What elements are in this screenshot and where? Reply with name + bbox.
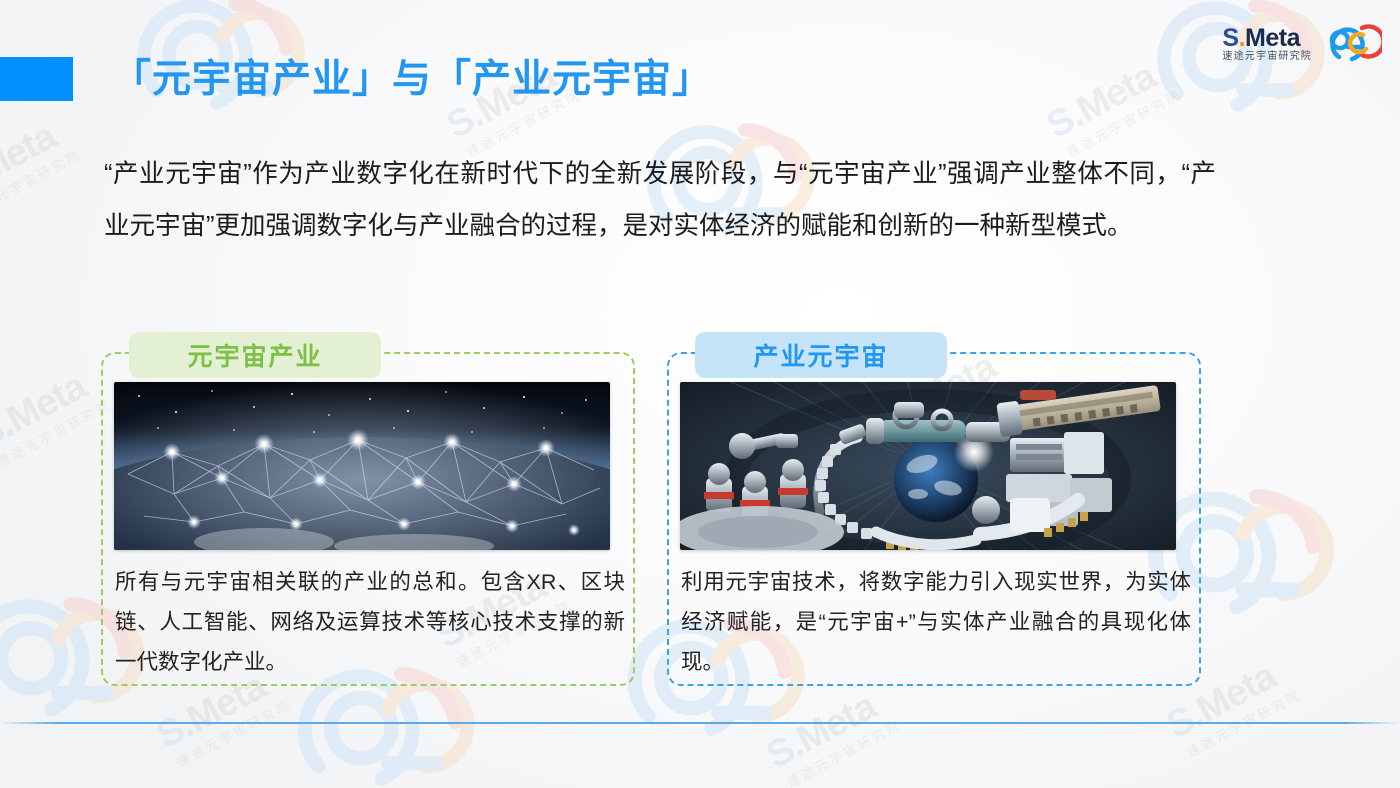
watermark-text: S.Meta 速途元宇宙研究院 — [0, 108, 85, 223]
watermark-sub: 速途元宇宙研究院 — [783, 714, 905, 788]
watermark-s: S — [1040, 99, 1081, 148]
watermark-s: S — [0, 409, 11, 458]
page-title-row: 「元宇宙产业」与「产业元宇宙」 — [0, 52, 1400, 104]
card-title-metaverse-industry: 元宇宙产业 — [129, 332, 381, 378]
slide-canvas: S.Meta 速途元宇宙研究院 S.Meta 速途元宇宙研究院 S.Meta 速… — [0, 0, 1400, 788]
card-body-industrial-metaverse: 利用元宇宙技术，将数字能力引入现实世界，为实体经济赋能，是“元宇宙+”与实体产业… — [681, 562, 1191, 682]
card-metaverse-industry: 元宇宙产业 — [101, 352, 635, 686]
watermark-sub: 速途元宇宙研究院 — [0, 394, 115, 471]
title-marker — [0, 57, 73, 101]
brand-wordmark: S.Meta 速途元宇宙研究院 — [1222, 25, 1312, 63]
card-title-industrial-metaverse: 产业元宇宙 — [695, 332, 947, 378]
brand-name-rest: Meta — [1245, 24, 1300, 52]
brand-logo: S.Meta 速途元宇宙研究院 — [1222, 18, 1382, 69]
watermark-s: S — [440, 99, 481, 148]
footer-divider — [0, 722, 1400, 724]
brand-name: S.Meta — [1222, 25, 1312, 51]
watermark-text: S.Meta 速途元宇宙研究院 — [760, 678, 905, 788]
watermark-sub: 速途元宇宙研究院 — [0, 144, 85, 221]
watermark-meta: .Meta — [782, 685, 883, 765]
card-industrial-metaverse: 产业元宇宙 — [667, 352, 1201, 686]
watermark-meta: .Meta — [0, 365, 93, 445]
card-body-metaverse-industry: 所有与元宇宙相关联的产业的总和。包含XR、区块链、人工智能、网络及运算技术等核心… — [115, 562, 625, 682]
brand-name-s: S — [1222, 24, 1238, 52]
watermark-s: S — [760, 729, 801, 778]
industrial-robot-ring-earth-image — [680, 382, 1176, 550]
watermark-meta: .Meta — [0, 115, 63, 195]
watermark-s: S — [150, 709, 191, 758]
intro-paragraph: “产业元宇宙”作为产业数字化在新时代下的全新发展阶段，与“元宇宙产业”强调产业整… — [104, 148, 1216, 252]
brand-subtitle: 速途元宇宙研究院 — [1222, 52, 1312, 63]
watermark-text: S.Meta 速途元宇宙研究院 — [0, 358, 115, 473]
smeta-circle-logo-icon — [1320, 18, 1382, 69]
page-title: 「元宇宙产业」与「产业元宇宙」 — [112, 48, 712, 104]
watermark-sub: 速途元宇宙研究院 — [173, 694, 295, 771]
earth-network-mesh-image — [114, 382, 610, 550]
